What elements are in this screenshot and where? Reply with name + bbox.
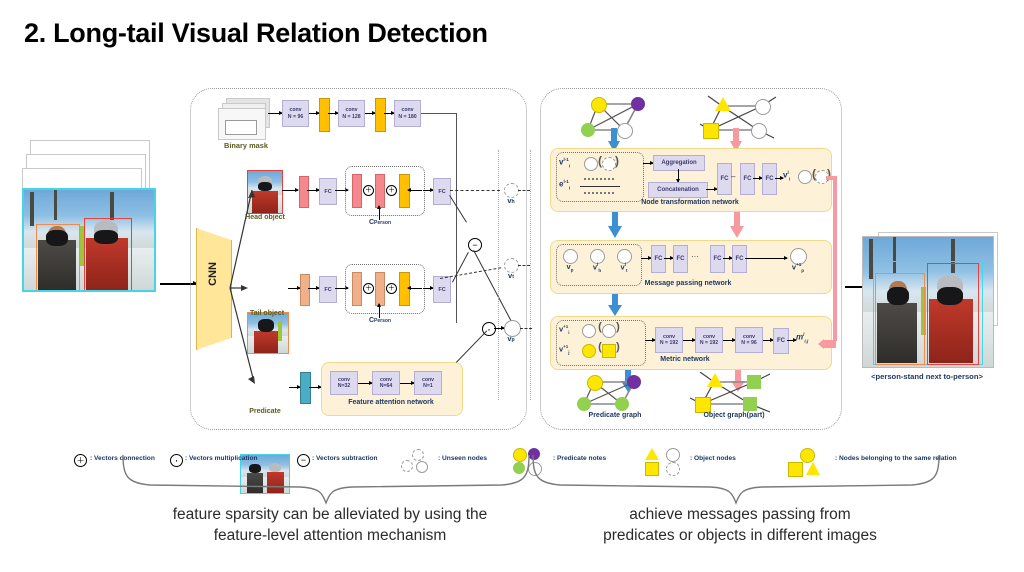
arrow-inputs-to-aggregation bbox=[643, 163, 653, 164]
tail-cat-bar-2 bbox=[375, 272, 385, 306]
metric-input-j: v+1j bbox=[559, 345, 577, 356]
binary-mask-icon bbox=[218, 98, 274, 140]
arrow-conv1-to-bar1 bbox=[309, 113, 319, 114]
right-caption-line-1: achieve messages passing from bbox=[520, 505, 960, 526]
edge-dots-1 bbox=[584, 178, 614, 182]
tail-cat-bar-1 bbox=[352, 272, 362, 306]
fan-conv-1: conv N=32 bbox=[330, 371, 358, 395]
node-yellow-circle bbox=[582, 344, 596, 358]
node-transform-fc-3: FC bbox=[762, 163, 777, 195]
feedback-line-top bbox=[826, 176, 836, 180]
head-cat-bar-1 bbox=[352, 174, 362, 208]
paren-close: ) bbox=[615, 322, 621, 334]
circle-plus-icon: ＋ bbox=[363, 283, 374, 294]
ellipsis-fc: – bbox=[731, 172, 735, 181]
object-graph bbox=[690, 372, 776, 414]
arrow-metricconv3-to-fc bbox=[763, 340, 773, 341]
arrow-maskroute-to-headcat bbox=[408, 190, 422, 191]
circle-plus-icon: ＋ bbox=[386, 283, 397, 294]
metric-conv-3: conv N = 96 bbox=[735, 327, 763, 353]
fan-conv-3: conv N=1 bbox=[414, 371, 442, 395]
blue-arrow-down-3 bbox=[608, 294, 622, 316]
head-fc: FC bbox=[319, 178, 337, 205]
arrow-mpfc1-2 bbox=[664, 258, 673, 259]
mask-conv-1: conv N = 96 bbox=[282, 100, 309, 127]
feedback-arrow-bottom bbox=[818, 336, 836, 346]
head-fc-2: FC bbox=[433, 178, 451, 205]
tail-context-label: CPerson bbox=[356, 317, 404, 324]
node-green-square bbox=[743, 397, 757, 411]
tail-feature-bar bbox=[300, 274, 310, 306]
arrow-aggregation-to-concat bbox=[678, 169, 679, 182]
tail-fc-2: FC bbox=[433, 276, 451, 303]
node-green bbox=[577, 397, 591, 411]
object-graph-label: Object graph(part) bbox=[688, 412, 780, 419]
node-green bbox=[615, 397, 629, 411]
output-image-stack bbox=[862, 232, 1022, 377]
arrow-fanconv1-2 bbox=[358, 383, 372, 384]
arrow-bar2-to-conv3 bbox=[384, 113, 394, 114]
conv-n: N = 180 bbox=[398, 114, 416, 121]
head-context-label: CPerson bbox=[356, 219, 404, 226]
arrow-mpinputs-to-fc1 bbox=[641, 258, 651, 259]
arrow-conv2-to-bar2 bbox=[365, 113, 375, 114]
mp-fc-3: FC bbox=[710, 245, 725, 273]
conv-n: N = 128 bbox=[342, 114, 360, 121]
head-feature-bar bbox=[299, 176, 309, 208]
node-white-circle bbox=[798, 170, 812, 184]
right-caption-line-2: predicates or objects in different image… bbox=[520, 526, 960, 547]
left-caption: feature sparsity can be alleviated by us… bbox=[110, 505, 550, 547]
arrow-fc3-to-output bbox=[775, 178, 783, 179]
head-cat-bar-2 bbox=[375, 174, 385, 208]
conv-n: N=64 bbox=[380, 383, 393, 390]
predicate-graph-label: Predicate graph bbox=[570, 412, 660, 419]
bbox-red bbox=[927, 263, 979, 365]
dashed-to-vh bbox=[450, 190, 500, 191]
circle-plus-icon: ＋ bbox=[386, 185, 397, 196]
arrow-maskroute-to-tailcat bbox=[408, 288, 422, 289]
conv-n: N = 192 bbox=[700, 340, 718, 347]
circle-minus-icon: − bbox=[468, 238, 482, 252]
vh-label: vh bbox=[498, 197, 524, 205]
feedback-line-vertical bbox=[833, 176, 837, 341]
arrow-concat-to-fc1 bbox=[706, 189, 717, 190]
fan-conv-2: conv N=64 bbox=[372, 371, 400, 395]
feature-attention-title: Feature attention network bbox=[324, 399, 458, 406]
vp-label: vp bbox=[498, 335, 524, 343]
node-green bbox=[581, 123, 595, 137]
conv-n: N = 96 bbox=[741, 340, 756, 347]
mask-conv-3: conv N = 180 bbox=[394, 100, 421, 127]
output-photo bbox=[862, 236, 994, 368]
mp-output-label: v+1p bbox=[784, 263, 812, 274]
node-yellow-square bbox=[703, 123, 719, 139]
mp-fc-4: FC bbox=[732, 245, 747, 273]
arrow-cperson-head bbox=[379, 206, 380, 220]
paren-close: ) bbox=[614, 155, 620, 168]
right-caption: achieve messages passing from predicates… bbox=[520, 505, 960, 547]
node-green-square bbox=[747, 375, 761, 389]
circle-plus-icon: ＋ bbox=[74, 454, 87, 467]
mp-input-vt: vlt bbox=[612, 263, 636, 274]
arrow-fc2-to-fc3 bbox=[753, 178, 762, 179]
mask-route-line bbox=[421, 113, 457, 114]
aggregation-box: Aggregation bbox=[653, 155, 705, 171]
arrow-tailcat-to-fc2 bbox=[423, 288, 433, 289]
arrow-mpfc3-4 bbox=[723, 258, 732, 259]
arrow-predfeat-to-fan bbox=[309, 387, 321, 388]
message-passing-title: Message passing network bbox=[598, 280, 778, 287]
node-transform-input-v: vl-1i bbox=[559, 158, 579, 169]
node-yellow bbox=[587, 375, 603, 391]
arrow-mask-to-conv1 bbox=[268, 113, 282, 114]
ellipsis-mp: ··· bbox=[691, 252, 699, 261]
separator-dotted-1 bbox=[498, 150, 499, 400]
arrow-metricinputs-to-conv1 bbox=[645, 340, 655, 341]
predicate-label: Predicate bbox=[234, 408, 296, 415]
left-caption-line-2: feature-level attention mechanism bbox=[110, 526, 550, 547]
node-transformation-title: Node transformation network bbox=[600, 199, 780, 206]
arrow-metricconv1-2 bbox=[683, 340, 695, 341]
paren-close: ) bbox=[615, 342, 621, 354]
node-white-circle bbox=[584, 157, 598, 171]
vt-label: vt bbox=[498, 272, 524, 280]
metric-network-title: Metric network bbox=[600, 356, 770, 363]
right-brace bbox=[530, 455, 950, 505]
node-transform-input-e: el-1i bbox=[559, 180, 579, 191]
mask-route-line-v bbox=[456, 113, 457, 323]
mask-sheet-3 bbox=[218, 108, 266, 140]
arrow-mult-to-vp bbox=[494, 328, 504, 329]
conv-n: N = 192 bbox=[660, 340, 678, 347]
metric-fc: FC bbox=[773, 328, 789, 354]
conv-n: N = 96 bbox=[288, 114, 303, 121]
metric-input-i: v+1i bbox=[559, 325, 577, 336]
dashed-after-vt bbox=[518, 265, 530, 266]
cnn-fanout-lines bbox=[228, 190, 298, 390]
circle-plus-icon: ＋ bbox=[363, 185, 374, 196]
metric-conv-2: conv N = 192 bbox=[695, 327, 723, 353]
node-transform-fc-2: FC bbox=[740, 163, 755, 195]
concatenation-box: Concatenation bbox=[648, 182, 708, 198]
arrow-mpfc4-to-output bbox=[745, 258, 787, 259]
blue-arrow-down-2 bbox=[608, 212, 622, 238]
node-purple bbox=[631, 97, 645, 111]
node-yellow-triangle bbox=[707, 373, 723, 387]
node-yellow-triangle bbox=[715, 97, 731, 111]
mask-yellow-bar-1 bbox=[319, 98, 330, 132]
page-title: 2. Long-tail Visual Relation Detection bbox=[24, 18, 488, 49]
tail-fc: FC bbox=[319, 276, 337, 303]
cnn-label: CNN bbox=[207, 257, 219, 291]
arrow-tailfeat-to-fc bbox=[308, 288, 319, 289]
arrow-headcat-to-fc2 bbox=[423, 190, 433, 191]
node-white-circle bbox=[602, 324, 616, 338]
input-image-stack bbox=[22, 140, 172, 280]
arrow-headfeat-to-fc bbox=[307, 190, 319, 191]
output-caption: <person-stand next to-person> bbox=[852, 372, 1002, 381]
metric-conv-1: conv N = 192 bbox=[655, 327, 683, 353]
pink-arrow-down-2 bbox=[730, 212, 744, 238]
conv-n: N=1 bbox=[423, 383, 433, 390]
node-purple bbox=[627, 375, 641, 389]
mp-input-vp: vp bbox=[558, 263, 582, 273]
node-white-circle bbox=[751, 123, 767, 139]
bbox-orange bbox=[875, 273, 925, 365]
node-yellow bbox=[591, 97, 607, 113]
arrow-metricfc-to-output bbox=[787, 340, 796, 341]
predicate-feature-bar bbox=[300, 372, 311, 404]
mp-fc-1: FC bbox=[651, 245, 666, 273]
arrow-fanconv2-3 bbox=[400, 383, 414, 384]
arrow-bar1-to-conv2 bbox=[328, 113, 338, 114]
dashed-after-vh bbox=[518, 190, 530, 191]
conv-n: N=32 bbox=[338, 383, 351, 390]
mask-yellow-bar-2 bbox=[375, 98, 386, 132]
separator-dotted-2 bbox=[530, 150, 531, 400]
mp-fc-2: FC bbox=[673, 245, 688, 273]
left-brace bbox=[120, 455, 540, 505]
binary-mask-label: Binary mask bbox=[206, 142, 286, 150]
edge-line bbox=[580, 186, 620, 187]
mask-conv-2: conv N = 128 bbox=[338, 100, 365, 127]
arrow-cperson-tail bbox=[379, 304, 380, 318]
left-caption-line-1: feature sparsity can be alleviated by us… bbox=[110, 505, 550, 526]
node-yellow-square bbox=[695, 397, 711, 413]
node-white-circle bbox=[755, 99, 771, 115]
arrow-metricconv2-3 bbox=[723, 340, 735, 341]
predicate-graph bbox=[578, 374, 650, 412]
input-photo bbox=[22, 188, 156, 292]
mp-input-vh: vlh bbox=[585, 263, 609, 274]
node-white-circle bbox=[582, 324, 596, 338]
node-transform-fc-1: FC bbox=[717, 163, 732, 195]
edge-dots-2 bbox=[584, 192, 614, 196]
